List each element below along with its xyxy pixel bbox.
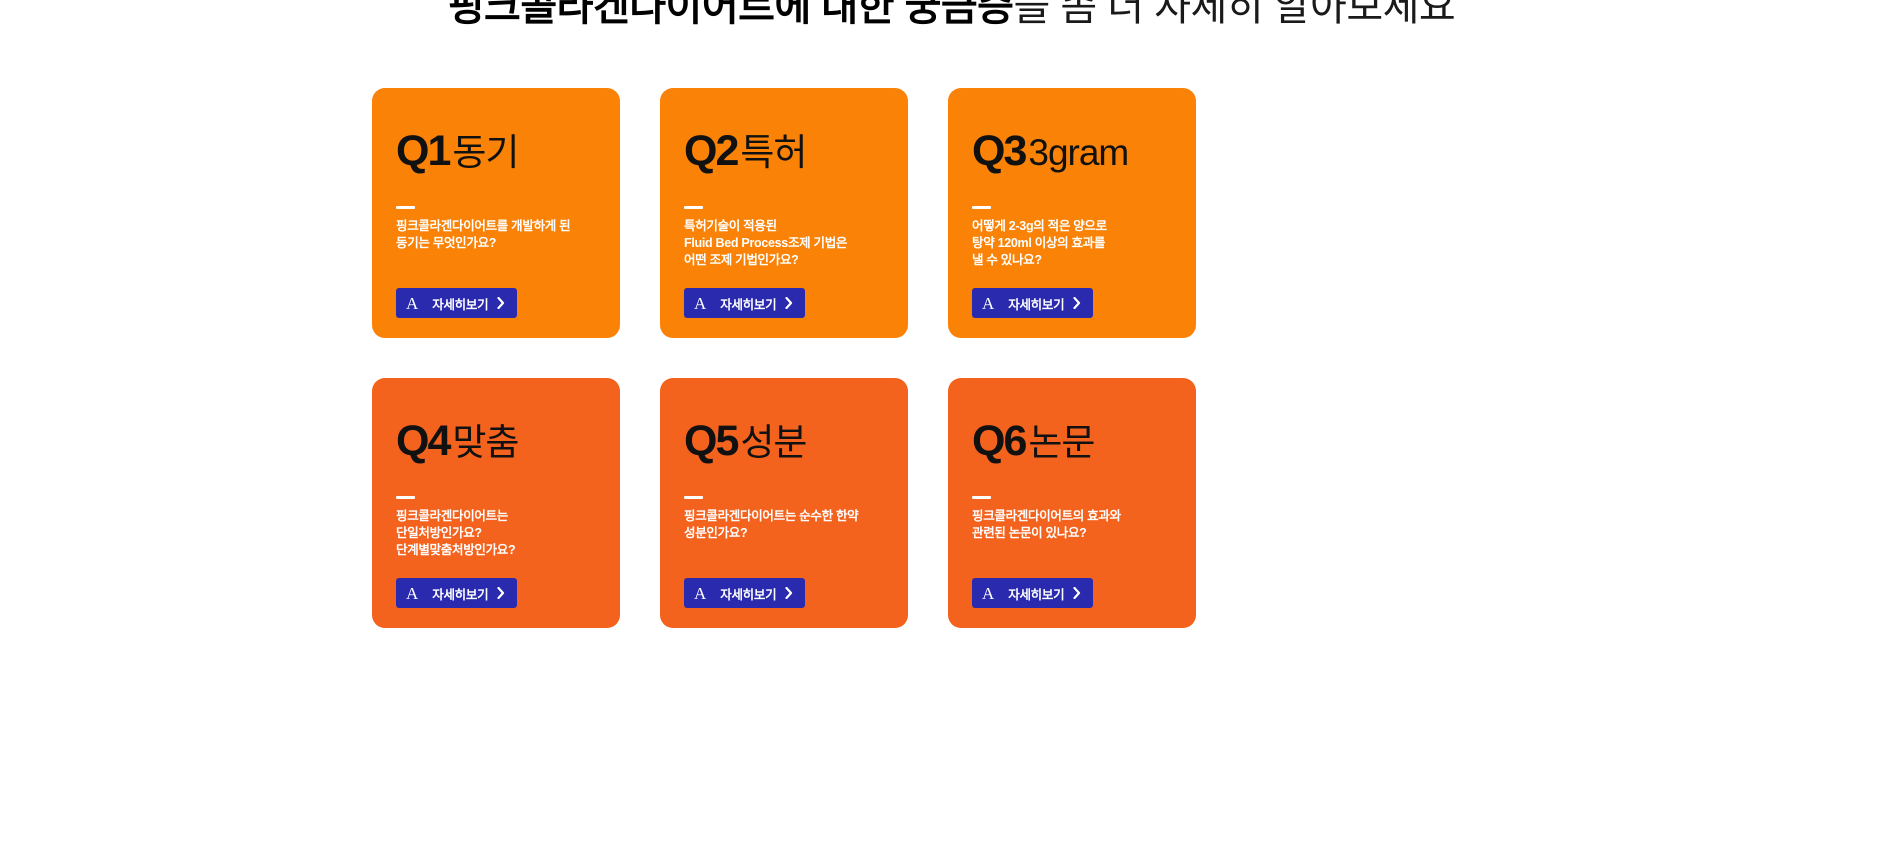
faq-card-q-number: Q6 [972,417,1025,465]
faq-card-question: 핑크콜라겐다이어트는 단일처방인가요? 단계별맞춤처방인가요? [396,508,596,559]
faq-card-q3[interactable]: Q33gram 어떻게 2-3g의 적은 양으로 탕약 120ml 이상의 효과… [948,88,1196,338]
answer-badge: A [694,585,706,602]
faq-card-topic: 동기 [452,132,518,173]
faq-card-title: Q5성분 [684,420,884,463]
detail-button[interactable]: A 자세히보기 [684,288,805,318]
chevron-right-icon [497,297,505,309]
question-line: 핑크콜라겐다이어트의 효과와 [972,508,1172,525]
question-line: 낼 수 있나요? [972,252,1172,269]
detail-button[interactable]: A 자세히보기 [396,578,517,608]
question-line: Fluid Bed Process조제 기법은 [684,235,884,252]
faq-card-q-number: Q3 [972,127,1025,175]
faq-row-bottom: Q4맞춤 핑크콜라겐다이어트는 단일처방인가요? 단계별맞춤처방인가요? A 자… [372,378,1196,628]
answer-badge: A [406,585,418,602]
faq-card-q-number: Q2 [684,127,737,175]
faq-card-q2[interactable]: Q2특허 특허기술이 적용된 Fluid Bed Process조제 기법은 어… [660,88,908,338]
chevron-right-icon [785,297,793,309]
faq-card-topic: 성분 [740,422,806,463]
faq-card-topic: 논문 [1028,422,1094,463]
answer-badge: A [694,295,706,312]
detail-button-label: 자세히보기 [432,584,488,603]
faq-card-question: 어떻게 2-3g의 적은 양으로 탕약 120ml 이상의 효과를 낼 수 있나… [972,218,1172,269]
faq-row-top: Q1동기 핑크콜라겐다이어트를 개발하게 된 동기는 무엇인가요? A 자세히보… [372,88,1196,338]
faq-card-title: Q2특허 [684,130,884,173]
detail-button-label: 자세히보기 [1008,294,1064,313]
faq-card-title: Q1동기 [396,130,596,173]
faq-card-q5[interactable]: Q5성분 핑크콜라겐다이어트는 순수한 한약 성분인가요? A 자세히보기 [660,378,908,628]
detail-button[interactable]: A 자세히보기 [972,288,1093,318]
chevron-right-icon [1073,587,1081,599]
question-line: 성분인가요? [684,525,884,542]
faq-card-q1[interactable]: Q1동기 핑크콜라겐다이어트를 개발하게 된 동기는 무엇인가요? A 자세히보… [372,88,620,338]
page-title-normal: 을 좀 더 자세히 알아보세요 [1013,0,1455,29]
chevron-right-icon [785,587,793,599]
faq-card-q-number: Q1 [396,127,449,175]
faq-page: 핑크콜라겐다이어트에 대한 궁금증을 좀 더 자세히 알아보세요 Q1동기 핑크… [0,0,1903,866]
faq-card-title: Q33gram [972,130,1172,173]
question-line: 단일처방인가요? [396,525,596,542]
detail-button-label: 자세히보기 [720,584,776,603]
faq-card-q-number: Q4 [396,417,449,465]
faq-card-topic: 맞춤 [452,422,518,463]
detail-button-label: 자세히보기 [1008,584,1064,603]
divider-dash [972,496,991,499]
page-title: 핑크콜라겐다이어트에 대한 궁금증을 좀 더 자세히 알아보세요 [0,0,1903,36]
answer-badge: A [406,295,418,312]
question-line: 특허기술이 적용된 [684,218,884,235]
detail-button-label: 자세히보기 [720,294,776,313]
faq-card-q6[interactable]: Q6논문 핑크콜라겐다이어트의 효과와 관련된 논문이 있나요? A 자세히보기 [948,378,1196,628]
question-line: 단계별맞춤처방인가요? [396,542,596,559]
chevron-right-icon [497,587,505,599]
question-line: 탕약 120ml 이상의 효과를 [972,235,1172,252]
faq-card-grid: Q1동기 핑크콜라겐다이어트를 개발하게 된 동기는 무엇인가요? A 자세히보… [372,88,1196,628]
question-line: 어떻게 2-3g의 적은 양으로 [972,218,1172,235]
faq-card-question: 핑크콜라겐다이어트는 순수한 한약 성분인가요? [684,508,884,542]
page-title-strong: 핑크콜라겐다이어트에 대한 궁금증 [448,0,1014,29]
detail-button[interactable]: A 자세히보기 [684,578,805,608]
faq-card-question: 특허기술이 적용된 Fluid Bed Process조제 기법은 어떤 조제 … [684,218,884,269]
chevron-right-icon [1073,297,1081,309]
divider-dash [684,496,703,499]
question-line: 핑크콜라겐다이어트는 순수한 한약 [684,508,884,525]
faq-card-topic: 3gram [1028,132,1128,173]
question-line: 핑크콜라겐다이어트를 개발하게 된 [396,218,596,235]
faq-card-question: 핑크콜라겐다이어트를 개발하게 된 동기는 무엇인가요? [396,218,596,252]
detail-button[interactable]: A 자세히보기 [396,288,517,318]
faq-card-question: 핑크콜라겐다이어트의 효과와 관련된 논문이 있나요? [972,508,1172,542]
faq-card-q4[interactable]: Q4맞춤 핑크콜라겐다이어트는 단일처방인가요? 단계별맞춤처방인가요? A 자… [372,378,620,628]
detail-button[interactable]: A 자세히보기 [972,578,1093,608]
divider-dash [972,206,991,209]
divider-dash [684,206,703,209]
faq-card-title: Q4맞춤 [396,420,596,463]
answer-badge: A [982,585,994,602]
question-line: 핑크콜라겐다이어트는 [396,508,596,525]
divider-dash [396,206,415,209]
faq-card-title: Q6논문 [972,420,1172,463]
answer-badge: A [982,295,994,312]
question-line: 관련된 논문이 있나요? [972,525,1172,542]
divider-dash [396,496,415,499]
detail-button-label: 자세히보기 [432,294,488,313]
question-line: 동기는 무엇인가요? [396,235,596,252]
faq-card-topic: 특허 [740,132,806,173]
faq-card-q-number: Q5 [684,417,737,465]
question-line: 어떤 조제 기법인가요? [684,252,884,269]
